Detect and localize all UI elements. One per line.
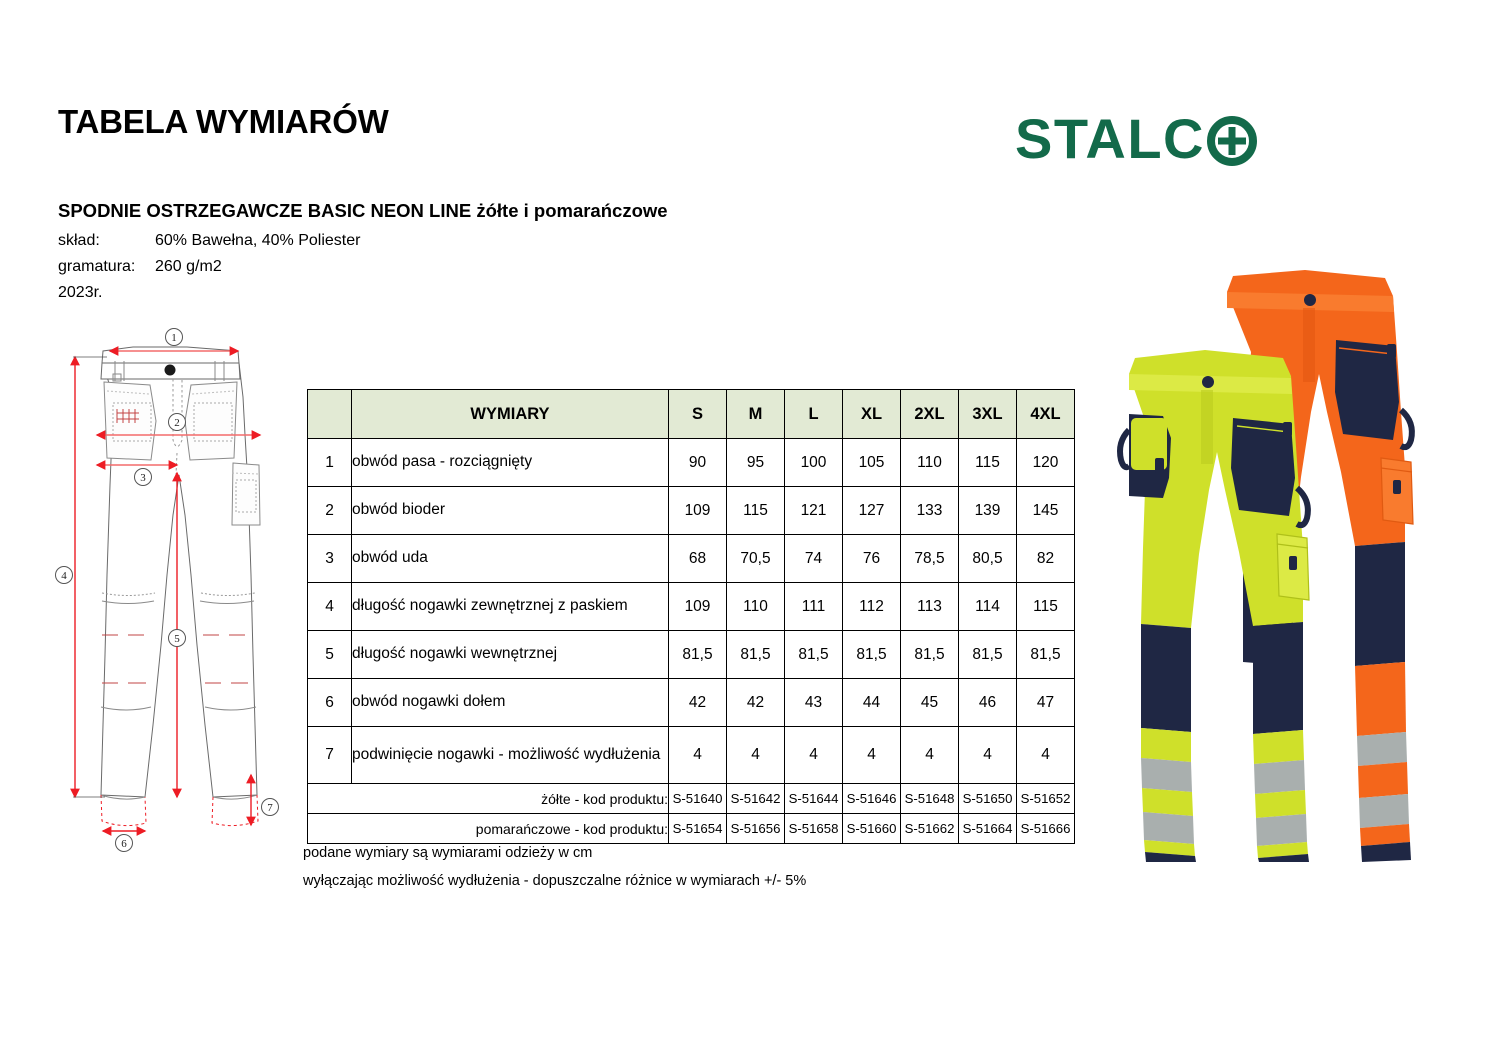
header-size-3xl: 3XL [959,390,1017,439]
row-value-l: 74 [785,535,843,583]
row-value-xl: 105 [843,439,901,487]
row-value-s: 81,5 [669,631,727,679]
row-value-l: 43 [785,679,843,727]
row-value-xl: 4 [843,727,901,784]
svg-text:7: 7 [267,802,273,814]
header-size-m: M [727,390,785,439]
svg-text:1: 1 [171,332,177,344]
row-description: długość nogawki wewnętrznej [352,631,669,679]
row-value-4xl: 82 [1017,535,1075,583]
page-title: TABELA WYMIARÓW [58,103,389,141]
row-description: długość nogawki zewnętrznej z paskiem [352,583,669,631]
row-description: obwód nogawki dołem [352,679,669,727]
row-number: 5 [308,631,352,679]
svg-text:6: 6 [121,838,127,850]
code-value-xl: S-51646 [843,784,901,814]
row-value-2xl: 81,5 [901,631,959,679]
row-value-4xl: 120 [1017,439,1075,487]
row-value-m: 81,5 [727,631,785,679]
spec-gramatura-value: 260 g/m2 [155,258,222,275]
stalco-logo: STALC [1015,108,1257,170]
row-number: 2 [308,487,352,535]
table-row: 7 podwinięcie nogawki - możliwość wydłuż… [308,727,1075,784]
row-value-2xl: 133 [901,487,959,535]
row-value-3xl: 114 [959,583,1017,631]
code-value-3xl: S-51650 [959,784,1017,814]
row-value-m: 115 [727,487,785,535]
table-row: 1 obwód pasa - rozciągnięty 90 95 100 10… [308,439,1075,487]
spec-year: 2023r. [58,284,102,302]
page-root: TABELA WYMIARÓW STALC SPODNIE OSTRZEGAWC… [0,0,1500,1061]
dimension-marker-3: 3 [135,469,152,486]
row-value-2xl: 110 [901,439,959,487]
product-photo [1105,262,1465,862]
code-value-2xl: S-51648 [901,784,959,814]
code-value-s: S-51640 [669,784,727,814]
header-wymiary: WYMIARY [352,390,669,439]
row-value-l: 111 [785,583,843,631]
row-value-m: 4 [727,727,785,784]
dimension-marker-2: 2 [169,414,186,431]
svg-text:4: 4 [61,570,67,582]
row-value-3xl: 139 [959,487,1017,535]
product-photo-yellow-pants [1120,350,1309,862]
row-value-m: 110 [727,583,785,631]
row-value-m: 42 [727,679,785,727]
circled-plus-icon [1207,116,1257,166]
row-value-4xl: 47 [1017,679,1075,727]
row-number: 4 [308,583,352,631]
footnote-units: podane wymiary są wymiarami odzieży w cm [303,845,592,861]
row-value-3xl: 80,5 [959,535,1017,583]
code-value-2xl: S-51662 [901,814,959,844]
dimension-marker-7: 7 [262,799,279,816]
product-code-row-yellow: żółte - kod produktu: S-51640 S-51642 S-… [308,784,1075,814]
row-value-s: 68 [669,535,727,583]
row-value-l: 100 [785,439,843,487]
spec-gramatura: gramatura:260 g/m2 [58,258,222,276]
row-value-s: 109 [669,487,727,535]
code-row-label: pomarańczowe - kod produktu: [308,814,669,844]
product-code-row-orange: pomarańczowe - kod produktu: S-51654 S-5… [308,814,1075,844]
row-description: obwód bioder [352,487,669,535]
row-value-m: 70,5 [727,535,785,583]
header-size-l: L [785,390,843,439]
row-value-3xl: 4 [959,727,1017,784]
svg-text:3: 3 [140,472,146,484]
table-row: 3 obwód uda 68 70,5 74 76 78,5 80,5 82 [308,535,1075,583]
dimension-marker-1: 1 [166,329,183,346]
row-value-4xl: 4 [1017,727,1075,784]
product-name: SPODNIE OSTRZEGAWCZE BASIC NEON LINE żół… [58,200,668,222]
row-value-s: 109 [669,583,727,631]
row-number: 3 [308,535,352,583]
row-value-2xl: 78,5 [901,535,959,583]
row-value-2xl: 113 [901,583,959,631]
header-size-4xl: 4XL [1017,390,1075,439]
table-row: 6 obwód nogawki dołem 42 42 43 44 45 46 … [308,679,1075,727]
code-value-xl: S-51660 [843,814,901,844]
dimension-marker-4: 4 [56,567,73,584]
dimension-marker-6: 6 [116,835,133,852]
row-number: 1 [308,439,352,487]
spec-sklad-value: 60% Bawełna, 40% Poliester [155,232,360,249]
table-row: 2 obwód bioder 109 115 121 127 133 139 1… [308,487,1075,535]
spec-sklad: skład:60% Bawełna, 40% Poliester [58,232,360,250]
row-value-xl: 81,5 [843,631,901,679]
header-size-xl: XL [843,390,901,439]
code-value-m: S-51642 [727,784,785,814]
row-value-m: 95 [727,439,785,487]
svg-text:5: 5 [174,633,180,645]
code-value-4xl: S-51666 [1017,814,1075,844]
row-value-3xl: 115 [959,439,1017,487]
code-value-m: S-51656 [727,814,785,844]
row-value-4xl: 145 [1017,487,1075,535]
row-number: 7 [308,727,352,784]
row-value-xl: 112 [843,583,901,631]
spec-year-label: 2023r. [58,284,102,301]
row-value-s: 90 [669,439,727,487]
row-value-4xl: 81,5 [1017,631,1075,679]
table-header-row: WYMIARY S M L XL 2XL 3XL 4XL [308,390,1075,439]
row-value-3xl: 46 [959,679,1017,727]
row-value-xl: 127 [843,487,901,535]
logo-wordmark: STALC [1015,111,1205,167]
row-value-2xl: 45 [901,679,959,727]
dimension-marker-5: 5 [169,630,186,647]
row-description: obwód uda [352,535,669,583]
row-description: podwinięcie nogawki - możliwość wydłużen… [352,727,669,784]
table-row: 5 długość nogawki wewnętrznej 81,5 81,5 … [308,631,1075,679]
code-row-label: żółte - kod produktu: [308,784,669,814]
technical-drawing: 1 2 3 4 5 [55,325,305,855]
header-size-s: S [669,390,727,439]
code-value-3xl: S-51664 [959,814,1017,844]
row-value-l: 4 [785,727,843,784]
row-value-s: 4 [669,727,727,784]
spec-sklad-label: skład: [58,232,155,250]
code-value-l: S-51658 [785,814,843,844]
row-value-l: 121 [785,487,843,535]
row-value-l: 81,5 [785,631,843,679]
spec-gramatura-label: gramatura: [58,258,155,276]
row-value-4xl: 115 [1017,583,1075,631]
svg-text:2: 2 [174,417,180,429]
row-value-xl: 76 [843,535,901,583]
row-description: obwód pasa - rozciągnięty [352,439,669,487]
row-value-3xl: 81,5 [959,631,1017,679]
size-table: WYMIARY S M L XL 2XL 3XL 4XL 1 obwód pas… [307,389,1075,844]
header-size-2xl: 2XL [901,390,959,439]
row-value-xl: 44 [843,679,901,727]
footnote-tolerance: wyłączając możliwość wydłużenia - dopusz… [303,873,806,889]
code-value-4xl: S-51652 [1017,784,1075,814]
row-value-2xl: 4 [901,727,959,784]
table-row: 4 długość nogawki zewnętrznej z paskiem … [308,583,1075,631]
code-value-s: S-51654 [669,814,727,844]
code-value-l: S-51644 [785,784,843,814]
row-number: 6 [308,679,352,727]
row-value-s: 42 [669,679,727,727]
header-number [308,390,352,439]
